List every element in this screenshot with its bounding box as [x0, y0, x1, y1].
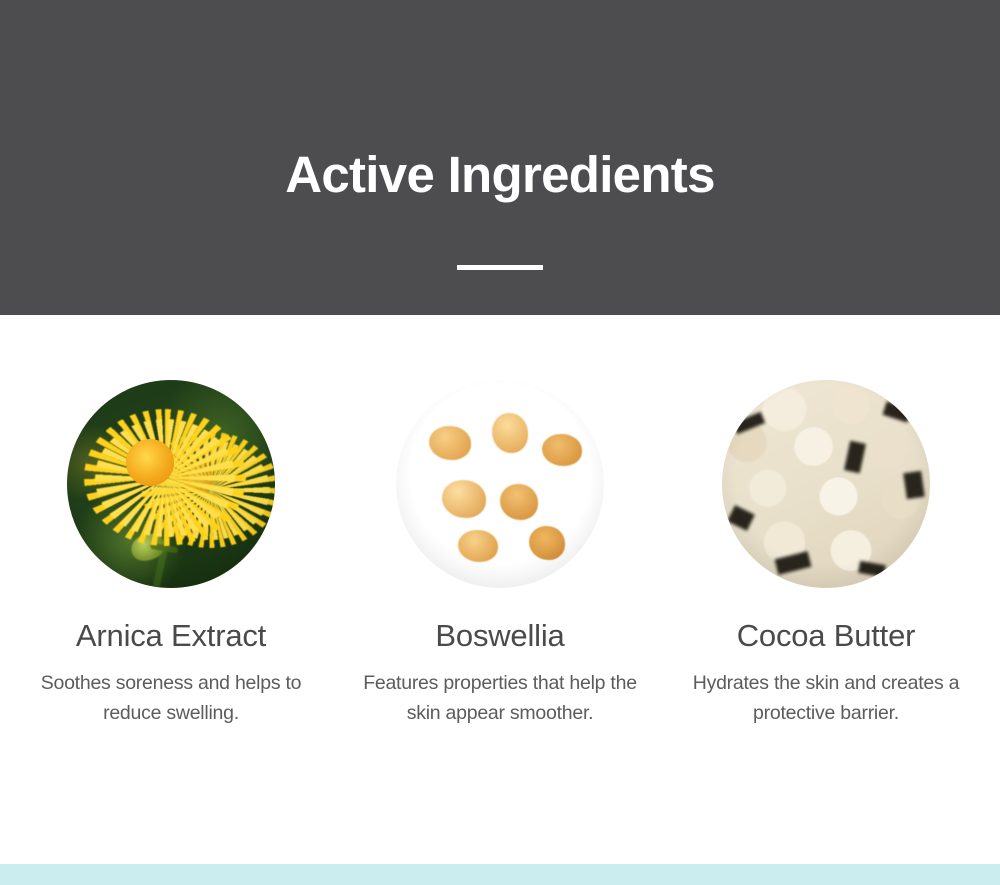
photo-vignette	[67, 380, 275, 588]
ingredient-name: Cocoa Butter	[661, 619, 991, 653]
ingredient-name: Arnica Extract	[6, 619, 336, 653]
bottom-accent-bar	[0, 864, 1000, 885]
page-title: Active Ingredients	[0, 148, 1000, 202]
ingredient-name: Boswellia	[335, 619, 665, 653]
ingredient-description: Soothes soreness and helps to reduce swe…	[21, 668, 321, 728]
ingredients-grid: Arnica Extract Soothes soreness and help…	[0, 315, 1000, 840]
photo-vignette	[722, 380, 930, 588]
ingredient-description: Features properties that help the skin a…	[350, 668, 650, 728]
cocoa-image-frame	[722, 380, 930, 588]
arnica-flower-photo	[67, 380, 275, 588]
cocoa-butter-photo	[722, 380, 930, 588]
ingredient-card-cocoa-butter: Cocoa Butter Hydrates the skin and creat…	[661, 315, 991, 729]
title-underline-divider	[457, 265, 543, 270]
photo-vignette	[396, 380, 604, 588]
arnica-image-frame	[67, 380, 275, 588]
ingredient-card-boswellia: Boswellia Features properties that help …	[335, 315, 665, 729]
ingredient-card-arnica-extract: Arnica Extract Soothes soreness and help…	[6, 315, 336, 729]
ingredient-description: Hydrates the skin and creates a protecti…	[676, 668, 976, 728]
boswellia-image-frame	[396, 380, 604, 588]
ingredients-infographic-page: Active Ingredients	[0, 0, 1000, 885]
header-band: Active Ingredients	[0, 0, 1000, 315]
boswellia-resin-photo	[396, 380, 604, 588]
